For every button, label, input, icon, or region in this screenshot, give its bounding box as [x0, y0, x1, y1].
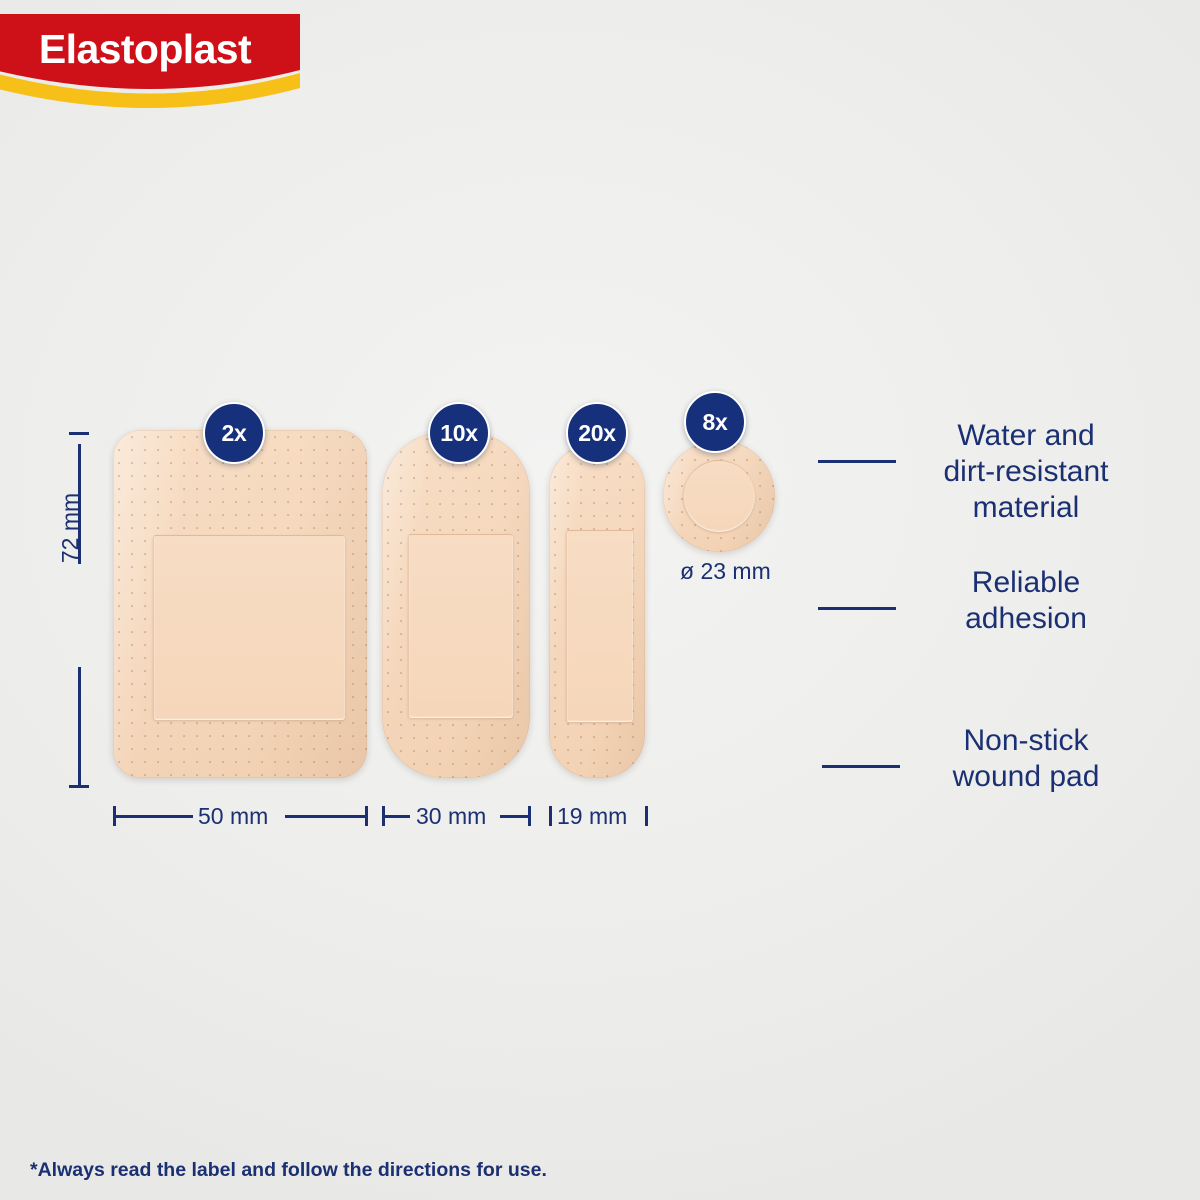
dimension-width19-label: 19 mm — [557, 803, 627, 830]
dimension-width19-cap-left — [549, 806, 552, 826]
wound-pad — [566, 530, 633, 722]
dimension-height-line-lower — [78, 667, 81, 787]
dimension-width30-line-left — [384, 815, 410, 818]
wound-pad — [683, 460, 755, 532]
dimension-width50-line-right — [285, 815, 366, 818]
wound-pad — [153, 535, 345, 720]
dimension-width19-cap-right — [645, 806, 648, 826]
wound-pad — [408, 534, 513, 718]
dimension-height-cap-top — [69, 432, 89, 435]
callout-label-material: Water and dirt-resistant material — [876, 418, 1176, 526]
count-badge-round: 8x — [684, 391, 746, 453]
plaster-strip-19mm — [549, 444, 645, 778]
plaster-strip-30mm — [382, 432, 530, 778]
plaster-rectangular-50x72 — [113, 430, 367, 778]
legal-footnote: *Always read the label and follow the di… — [30, 1159, 547, 1182]
dimension-width50-line-left — [115, 815, 193, 818]
logo-red-banner — [0, 14, 300, 89]
dimension-width30-label: 30 mm — [416, 803, 486, 830]
count-badge-strip-30: 10x — [428, 402, 490, 464]
brand-logo: Elastoplast — [0, 10, 304, 114]
plaster-round-23mm — [663, 440, 775, 552]
infographic-canvas: Elastoplast 2x 10x 20x 8x 72 mm 50 mm 30… — [0, 0, 1200, 1200]
dimension-diameter-label: ø 23 mm — [680, 558, 771, 585]
count-badge-rectangular: 2x — [203, 402, 265, 464]
count-badge-strip-19: 20x — [566, 402, 628, 464]
dimension-width30-line-right — [500, 815, 530, 818]
callout-label-wound-pad: Non-stick wound pad — [876, 723, 1176, 795]
callout-label-adhesion: Reliable adhesion — [876, 565, 1176, 637]
dimension-width50-label: 50 mm — [198, 803, 268, 830]
dimension-height-label: 72 mm — [57, 483, 84, 573]
dimension-height-cap-bottom — [69, 785, 89, 788]
